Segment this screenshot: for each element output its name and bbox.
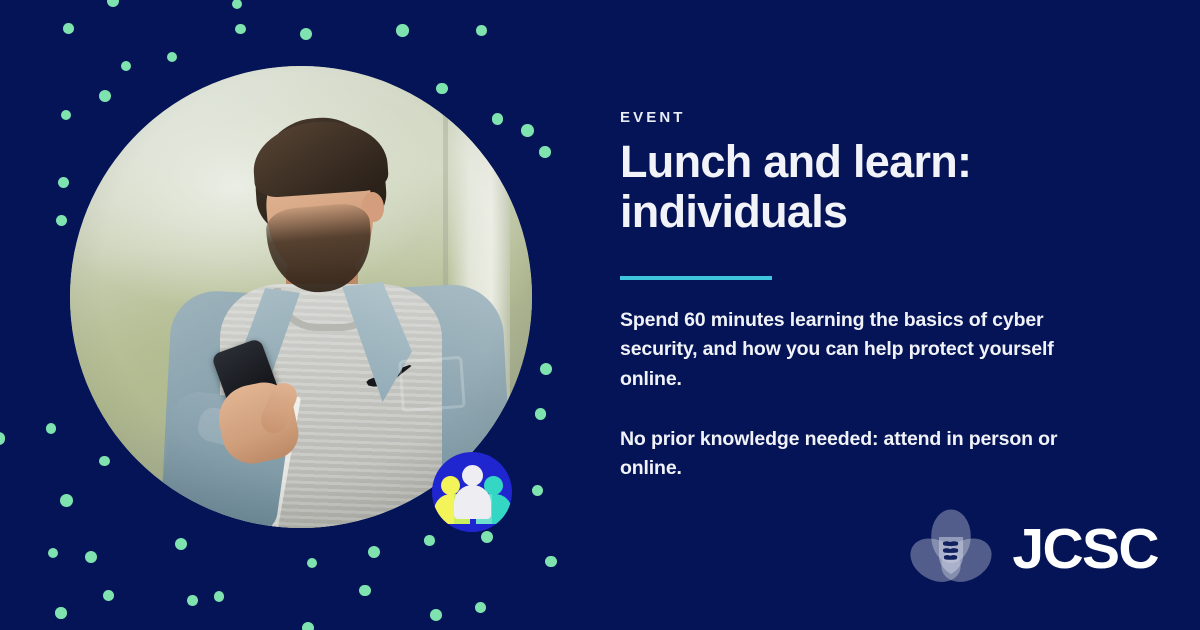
pattern-dot xyxy=(307,558,317,568)
event-promo-card: EVENT Lunch and learn: individuals Spend… xyxy=(0,0,1200,630)
page-title: Lunch and learn: individuals xyxy=(620,137,1040,238)
description-paragraph-2: No prior knowledge needed: attend in per… xyxy=(620,425,1112,484)
pattern-dot xyxy=(532,485,543,496)
pattern-dot xyxy=(235,24,246,35)
pattern-dot xyxy=(424,535,435,546)
pattern-dot xyxy=(540,363,552,375)
pattern-dot xyxy=(107,0,119,7)
pattern-dot xyxy=(481,531,494,544)
jcsc-logo-lockup: JCSC xyxy=(908,506,1158,592)
pattern-dot xyxy=(396,24,408,36)
accent-divider xyxy=(620,276,772,280)
pattern-dot xyxy=(302,622,314,630)
description-paragraph-1: Spend 60 minutes learning the basics of … xyxy=(620,306,1112,395)
pattern-dot xyxy=(359,585,371,597)
pattern-dot xyxy=(214,591,225,602)
content-column: EVENT Lunch and learn: individuals Spend… xyxy=(620,110,1140,484)
pattern-dot xyxy=(539,146,551,158)
pattern-dot xyxy=(0,432,5,445)
pattern-dot xyxy=(545,556,557,568)
pattern-dot xyxy=(175,538,187,550)
pattern-dot xyxy=(48,548,58,558)
jcsc-wordmark: JCSC xyxy=(1012,521,1158,578)
pattern-dot xyxy=(103,590,114,601)
person-center-head xyxy=(462,465,483,486)
pattern-dot xyxy=(476,25,487,36)
pattern-dot xyxy=(368,546,380,558)
pattern-dot xyxy=(46,423,56,433)
pattern-dot xyxy=(535,408,547,420)
jcsc-trefoil-shield-icon xyxy=(908,506,994,592)
person-center-body xyxy=(454,485,491,519)
pattern-dot xyxy=(55,607,67,619)
pattern-dot xyxy=(232,0,242,9)
pattern-dot xyxy=(475,602,486,613)
pattern-dot xyxy=(187,595,197,605)
audience-individuals-badge xyxy=(432,452,512,532)
pattern-dot xyxy=(300,28,312,40)
pattern-dot xyxy=(430,609,442,621)
three-lions-charge xyxy=(943,541,958,559)
pattern-dot xyxy=(56,215,67,226)
eyebrow-label: EVENT xyxy=(620,110,1140,125)
pattern-dot xyxy=(85,551,97,563)
pattern-dot xyxy=(167,52,177,62)
pattern-dot xyxy=(63,23,74,34)
pattern-dot xyxy=(58,177,69,188)
